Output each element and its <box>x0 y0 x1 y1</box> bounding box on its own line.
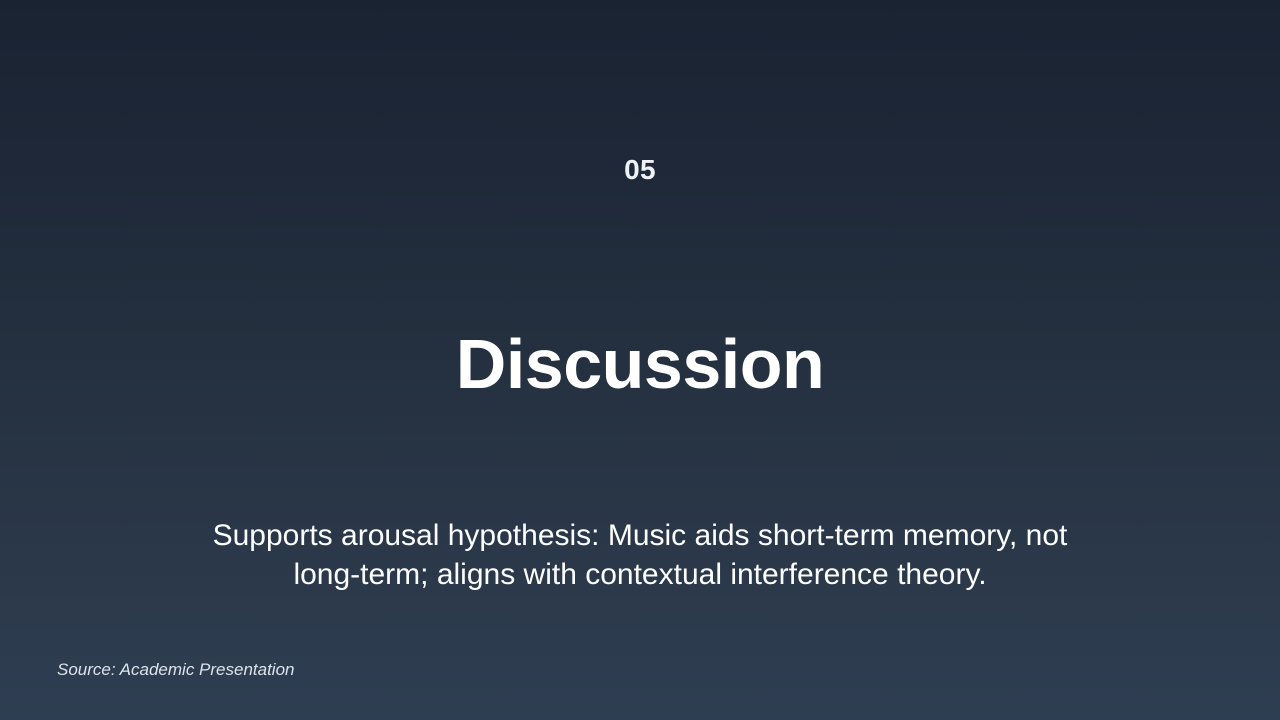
presentation-slide: 05 Discussion Supports arousal hypothesi… <box>0 0 1280 720</box>
section-number: 05 <box>0 153 1280 187</box>
slide-body-text: Supports arousal hypothesis: Music aids … <box>190 516 1090 594</box>
source-attribution: Source: Academic Presentation <box>57 658 295 682</box>
page-title: Discussion <box>0 326 1280 402</box>
